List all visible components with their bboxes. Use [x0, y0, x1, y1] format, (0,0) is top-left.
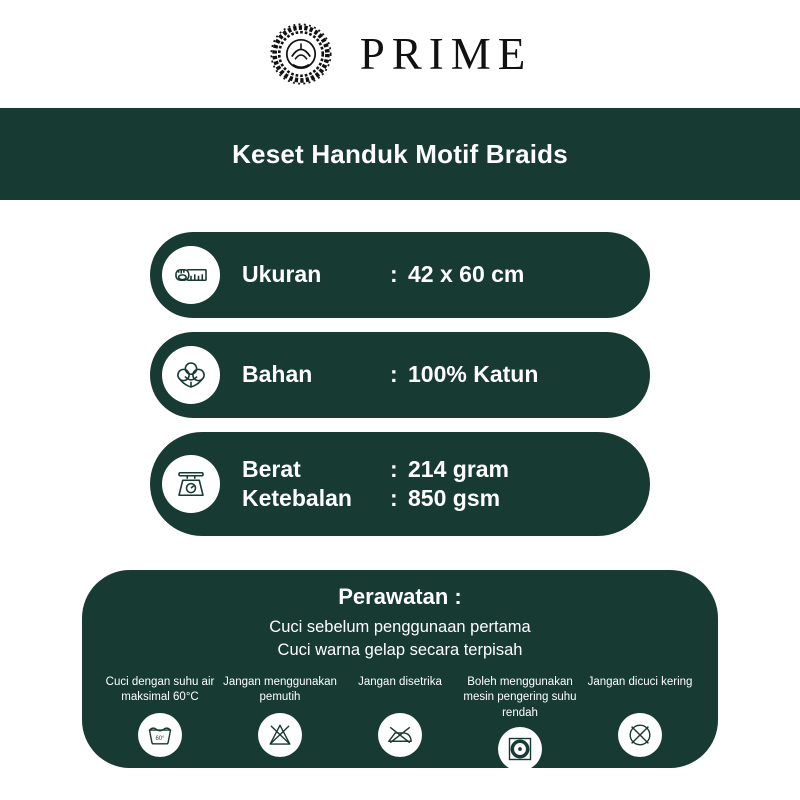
spec-separator: :	[390, 484, 408, 513]
spec-label: Bahan	[242, 360, 390, 389]
brand-name: PRIME	[356, 32, 533, 77]
spec-label: Berat	[242, 455, 390, 484]
care-title: Perawatan :	[82, 584, 718, 610]
spec-line: Ukuran : 42 x 60 cm	[242, 260, 524, 289]
weighing-scale-icon	[162, 455, 220, 513]
spec-label: Ukuran	[242, 260, 390, 289]
wash-60-icon: 60°	[138, 713, 182, 757]
spec-row-bahan: Bahan : 100% Katun	[150, 332, 650, 418]
cotton-boll-icon	[162, 346, 220, 404]
spec-text-bahan: Bahan : 100% Katun	[242, 360, 538, 389]
no-dry-clean-icon	[618, 713, 662, 757]
spec-line: Ketebalan : 850 gsm	[242, 484, 509, 513]
ornamental-wreath-logo-icon	[268, 21, 334, 87]
spec-separator: :	[390, 360, 408, 389]
care-panel: Perawatan : Cuci sebelum penggunaan pert…	[82, 570, 718, 768]
spec-value: 214 gram	[408, 455, 509, 484]
spec-row-berat: Berat : 214 gram Ketebalan : 850 gsm	[150, 432, 650, 536]
care-caption: Boleh menggunakan mesin pengering suhu r…	[462, 675, 578, 722]
spec-text-ukuran: Ukuran : 42 x 60 cm	[242, 260, 524, 289]
care-symbol-no-iron: Jangan disetrika	[342, 675, 458, 772]
spec-list: Ukuran : 42 x 60 cm Bahan	[0, 200, 800, 536]
spec-line: Bahan : 100% Katun	[242, 360, 538, 389]
care-symbol-no-bleach: Jangan menggunakan pemutih	[222, 675, 338, 772]
no-bleach-icon	[258, 713, 302, 757]
care-symbol-wash-60: Cuci dengan suhu air maksimal 60°C 60°	[102, 675, 218, 772]
care-symbol-no-dry-clean: Jangan dicuci kering	[582, 675, 698, 772]
spec-row-ukuran: Ukuran : 42 x 60 cm	[150, 232, 650, 318]
care-caption: Jangan dicuci kering	[588, 675, 693, 707]
wash-temp-label: 60°	[156, 736, 166, 742]
spec-value: 850 gsm	[408, 484, 500, 513]
no-iron-icon	[378, 713, 422, 757]
care-caption: Cuci dengan suhu air maksimal 60°C	[102, 675, 218, 707]
care-symbol-list: Cuci dengan suhu air maksimal 60°C 60° J…	[82, 663, 718, 772]
spec-value: 100% Katun	[408, 360, 538, 389]
spec-text-berat: Berat : 214 gram Ketebalan : 850 gsm	[242, 455, 509, 514]
care-caption: Jangan disetrika	[358, 675, 442, 707]
tumble-dry-low-icon	[498, 727, 542, 771]
spec-label: Ketebalan	[242, 484, 390, 513]
spec-separator: :	[390, 455, 408, 484]
care-caption: Jangan menggunakan pemutih	[222, 675, 338, 707]
page-title: Keset Handuk Motif Braids	[232, 139, 568, 170]
brand-header: PRIME	[0, 0, 800, 108]
spec-value: 42 x 60 cm	[408, 260, 524, 289]
title-banner: Keset Handuk Motif Braids	[0, 108, 800, 200]
care-symbol-tumble-dry-low: Boleh menggunakan mesin pengering suhu r…	[462, 675, 578, 772]
spec-separator: :	[390, 260, 408, 289]
tape-measure-icon	[162, 246, 220, 304]
care-note: Cuci warna gelap secara terpisah	[82, 639, 718, 662]
care-note: Cuci sebelum penggunaan pertama	[82, 616, 718, 639]
spec-line: Berat : 214 gram	[242, 455, 509, 484]
